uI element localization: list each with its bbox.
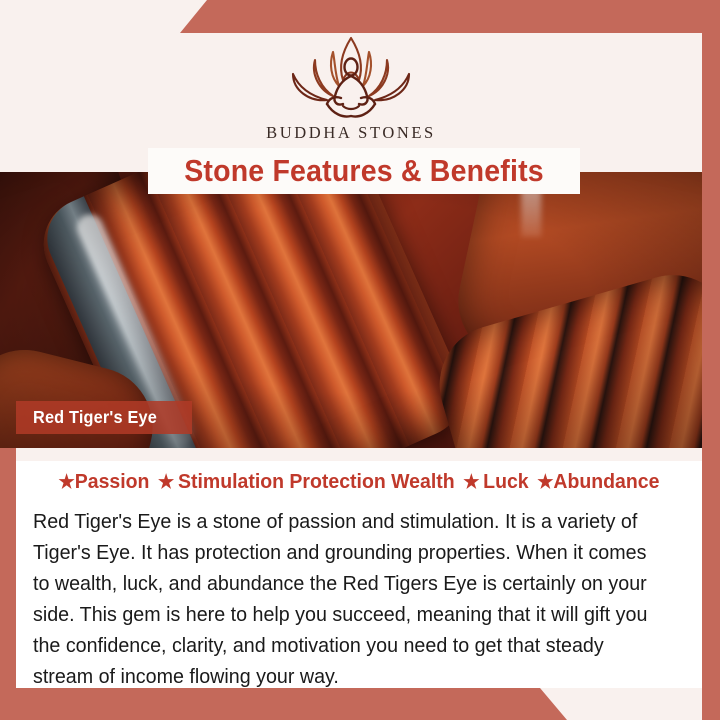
brand-logo: BUDDHA STONES (0, 30, 702, 143)
keyword-label: Passion (75, 470, 150, 493)
page-title-band: Stone Features & Benefits (148, 148, 580, 194)
lotus-meditating-figure-icon (271, 30, 431, 122)
keyword-label: Luck (483, 470, 528, 493)
stone-description: Red Tiger's Eye is a stone of passion an… (33, 506, 661, 692)
decorative-band-right (702, 0, 720, 720)
decorative-band-bottom (0, 688, 720, 720)
page-title: Stone Features & Benefits (165, 148, 562, 194)
panel-top-tint (16, 448, 702, 461)
header: BUDDHA STONES Stone Features & Benefits (0, 22, 702, 172)
keyword-label: Stimulation Protection Wealth (178, 470, 455, 493)
star-icon: ★ (59, 472, 75, 493)
stone-name-label: Red Tiger's Eye (33, 407, 157, 428)
star-icon: ★ (463, 472, 479, 493)
infographic-page: BUDDHA STONES Stone Features & Benefits … (0, 0, 720, 720)
brand-wordmark: BUDDHA STONES (0, 123, 702, 143)
decorative-band-left (0, 448, 16, 720)
keyword-label: Abundance (553, 470, 659, 493)
stone-photo: Red Tiger's Eye (0, 172, 720, 448)
star-icon: ★ (158, 472, 174, 493)
stone-name-badge: Red Tiger's Eye (16, 401, 192, 434)
star-icon: ★ (537, 472, 553, 493)
keyword-list: ★Passion★Stimulation Protection Wealth★L… (33, 470, 685, 494)
content-panel: ★Passion★Stimulation Protection Wealth★L… (16, 448, 702, 688)
